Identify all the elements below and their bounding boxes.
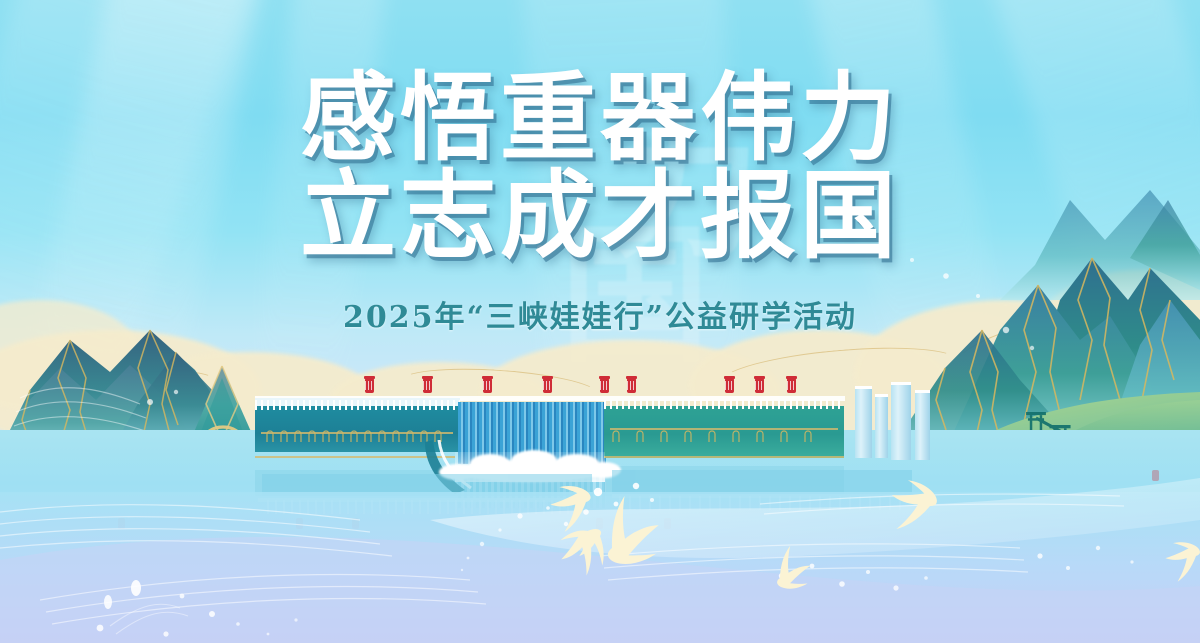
bird-icon <box>878 474 941 540</box>
subtitle-text: 2025年“三峡娃娃行”公益研学活动 <box>0 292 1200 336</box>
title-line-2: 立志成才报国 <box>0 168 1200 266</box>
banner-root: 力 国 <box>0 0 1200 643</box>
bird-icon <box>597 490 666 568</box>
bird-icon <box>772 544 813 591</box>
title-line-1: 感悟重器伟力 <box>0 70 1200 168</box>
title-block: 感悟重器伟力 立志成才报国 <box>0 70 1200 266</box>
bird-icon <box>1162 540 1200 585</box>
bird-icon <box>546 483 592 535</box>
